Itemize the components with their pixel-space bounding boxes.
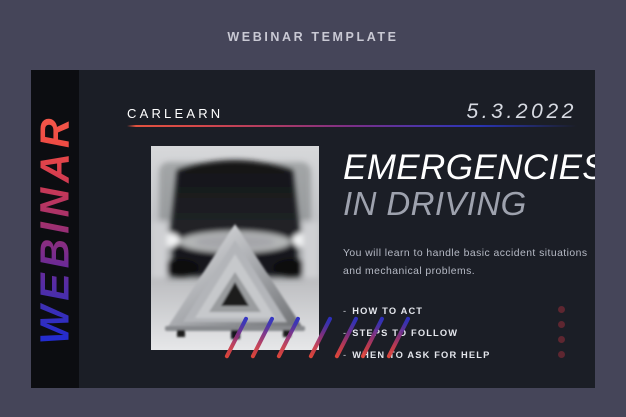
accent-dot (558, 351, 565, 358)
page-caption: WEBINAR TEMPLATE (0, 30, 626, 44)
poster-canvas: WEBINAR TEMPLATE WEBINAR CARLEARN 5.3.20… (0, 0, 626, 417)
brand-row: CARLEARN 5.3.2022 (127, 100, 577, 124)
bullet-dash-icon: - (343, 350, 347, 360)
list-item-label: STEPS TO FOLLOW (352, 328, 458, 338)
accent-dot (558, 321, 565, 328)
brand-name: CARLEARN (127, 106, 223, 121)
bullet-dash-icon: - (343, 328, 347, 338)
webinar-card: WEBINAR CARLEARN 5.3.2022 (31, 70, 595, 388)
card-content: CARLEARN 5.3.2022 (79, 70, 595, 388)
gradient-divider (127, 125, 577, 127)
list-item-label: WHEN TO ASK FOR HELP (352, 350, 490, 360)
accent-dot (558, 306, 565, 313)
list-item: -HOW TO ACT (343, 306, 593, 316)
hero-photo (151, 146, 319, 350)
accent-dot (558, 336, 565, 343)
description-text: You will learn to handle basic accident … (343, 245, 595, 281)
topic-list: -HOW TO ACT -STEPS TO FOLLOW -WHEN TO AS… (343, 306, 593, 372)
list-item-label: HOW TO ACT (352, 306, 423, 316)
accent-dots (558, 306, 565, 366)
headline-primary: EMERGENCIES (343, 150, 579, 186)
headline-block: EMERGENCIES IN DRIVING (343, 150, 579, 223)
event-date: 5.3.2022 (466, 100, 577, 124)
headline-secondary: IN DRIVING (343, 186, 579, 223)
vertical-title-text: WEBINAR (35, 114, 76, 345)
list-item: -STEPS TO FOLLOW (343, 328, 593, 338)
vertical-title-spine: WEBINAR (31, 70, 79, 388)
list-item: -WHEN TO ASK FOR HELP (343, 350, 593, 360)
warning-triangle-photo (151, 146, 319, 350)
bullet-dash-icon: - (343, 306, 347, 316)
